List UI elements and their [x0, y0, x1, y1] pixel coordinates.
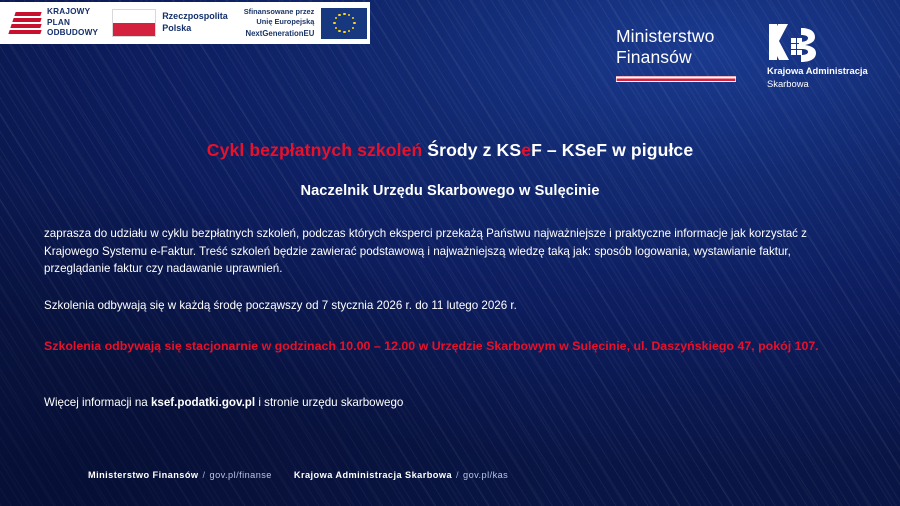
- more-info-paragraph: Więcej informacji na ksef.podatki.gov.pl…: [44, 394, 834, 412]
- poland-line-2: Polska: [162, 23, 228, 35]
- kpo-line-3: ODBUDOWY: [47, 28, 98, 39]
- more-info-prefix: Więcej informacji na: [44, 396, 151, 409]
- footer-mf-label: Ministerstwo Finansów: [88, 470, 199, 480]
- eu-line-3: NextGenerationEU: [244, 28, 315, 39]
- footer-kas-separator: /: [452, 470, 463, 480]
- title-part-white-1: Środy z KS: [422, 140, 521, 160]
- footer-mf-url[interactable]: gov.pl/finanse: [210, 470, 272, 480]
- poland-logo-text: Rzeczpospolita Polska: [162, 11, 228, 34]
- eu-logo: Sfinansowane przez Unię Europejską NextG…: [244, 7, 368, 39]
- kpo-line-1: KRAJOWY: [47, 7, 98, 18]
- slide-canvas: KRAJOWY PLAN ODBUDOWY Rzeczpospolita Pol…: [0, 0, 900, 506]
- kpo-logo-text: KRAJOWY PLAN ODBUDOWY: [47, 7, 98, 39]
- title-part-white-2: F – KSeF w pigułce: [531, 140, 693, 160]
- ksef-website-link[interactable]: ksef.podatki.gov.pl: [151, 396, 255, 409]
- kpo-line-2: PLAN: [47, 18, 98, 29]
- intro-paragraph: zaprasza do udziału w cyklu bezpłatnych …: [44, 225, 834, 278]
- poland-flag-icon: [112, 9, 156, 37]
- kas-line-1: Krajowa Administracja: [767, 65, 892, 78]
- page-title: Cykl bezpłatnych szkoleń Środy z KSeF – …: [0, 140, 900, 161]
- kas-logo: Krajowa Administracja Skarbowa: [767, 22, 892, 90]
- footer: Ministerstwo Finansów/gov.pl/finanseKraj…: [88, 470, 508, 480]
- kas-line-2: Skarbowa: [767, 78, 892, 91]
- page-subtitle: Naczelnik Urzędu Skarbowego w Sulęcinie: [0, 183, 900, 199]
- eu-flag-icon: [321, 8, 367, 39]
- ministry-of-finance-logo: Ministerstwo Finansów: [616, 26, 756, 82]
- footer-kas-label: Krajowa Administracja Skarbowa: [294, 470, 452, 480]
- eu-line-2: Unię Europejską: [244, 17, 315, 28]
- eu-line-1: Sfinansowane przez: [244, 7, 315, 18]
- ministry-line-2: Finansów: [616, 47, 756, 68]
- title-part-red: Cykl bezpłatnych szkoleń: [207, 140, 423, 160]
- location-paragraph: Szkolenia odbywają się stacjonarnie w go…: [44, 337, 834, 356]
- kas-monogram-icon: [767, 22, 829, 62]
- eu-logo-text: Sfinansowane przez Unię Europejską NextG…: [244, 7, 315, 39]
- eu-funding-banner: KRAJOWY PLAN ODBUDOWY Rzeczpospolita Pol…: [0, 2, 370, 44]
- poland-line-1: Rzeczpospolita: [162, 11, 228, 23]
- title-part-red-e: e: [521, 140, 531, 160]
- kpo-logo: KRAJOWY PLAN ODBUDOWY: [8, 7, 98, 39]
- kas-logo-text: Krajowa Administracja Skarbowa: [767, 65, 892, 90]
- kpo-building-icon: [8, 10, 42, 36]
- more-info-suffix: i stronie urzędu skarbowego: [255, 396, 403, 409]
- ministry-flag-rule-icon: [616, 76, 736, 82]
- footer-mf-separator: /: [199, 470, 210, 480]
- schedule-paragraph: Szkolenia odbywają się w każdą środę poc…: [44, 297, 834, 315]
- footer-kas-url[interactable]: gov.pl/kas: [463, 470, 508, 480]
- ministry-line-1: Ministerstwo: [616, 26, 756, 47]
